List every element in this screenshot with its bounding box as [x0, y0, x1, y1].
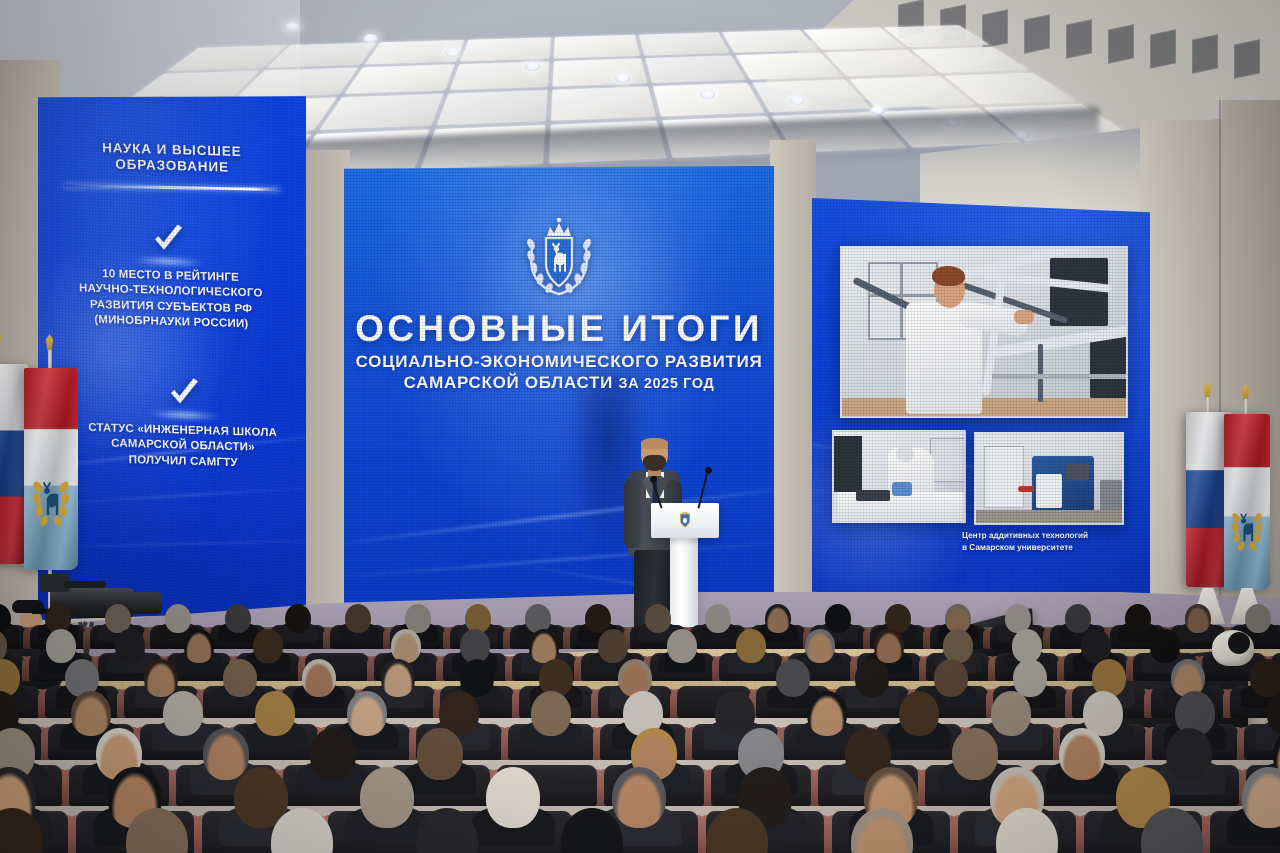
left-screen-divider [64, 184, 280, 191]
lab-bench [992, 374, 1128, 379]
checkmark-glow [132, 255, 204, 267]
audience-member-head [46, 629, 76, 663]
audience-member-head [825, 604, 851, 633]
flag-samara-folds [1224, 414, 1270, 590]
audience-member-head [899, 691, 939, 736]
audience-member-head [855, 659, 889, 697]
audience-member-head [715, 691, 755, 736]
left-screen-bullet-1: 10 МЕСТО В РЕЙТИНГЕ НАУЧНО-ТЕХНОЛОГИЧЕСК… [51, 266, 290, 334]
additive-printer-screen [1066, 464, 1089, 480]
audience-member-head [253, 629, 283, 663]
lab2-shelf [930, 438, 966, 482]
audience-member-head [952, 728, 998, 780]
center-screen-subtitle-line2: САМАРСКОЙ ОБЛАСТИ [404, 373, 613, 392]
ceiling-spotlight [870, 106, 885, 115]
lab-stand [1038, 344, 1043, 402]
audience-member-head [163, 691, 203, 736]
samara-flag-crest-icon [1231, 509, 1263, 555]
audience-member-head [585, 604, 611, 633]
audience-member-head [1245, 604, 1271, 633]
photo-lab-technician [832, 430, 966, 523]
led-screen-right[interactable]: Центр аддитивных технологий в Самарском … [812, 198, 1150, 606]
center-screen-title: ОСНОВНЫЕ ИТОГИ [344, 308, 774, 350]
audience-member-head [991, 691, 1031, 736]
scientist-hand [1014, 310, 1034, 324]
audience-member-head [874, 629, 904, 663]
audience-member-head [667, 629, 697, 663]
audience-member-head [1150, 629, 1180, 663]
photo-scientist-laboratory [840, 246, 1128, 418]
audience-member-head [203, 728, 249, 780]
lab2-sample-tray [856, 490, 890, 501]
speaker-hairline [641, 438, 668, 449]
audience-member-head [736, 629, 766, 663]
audience-member-head [934, 659, 968, 697]
samara-coat-of-arms-icon [522, 214, 596, 300]
center-screen-year: ЗА 2025 ГОД [618, 376, 714, 392]
audience-member-head [417, 728, 463, 780]
wall-panel-between-left-and-center [300, 150, 350, 620]
right-screen-caption: Центр аддитивных технологий в Самарском … [962, 530, 1137, 554]
lab2-instrument [892, 482, 912, 496]
audience-member-head [807, 691, 847, 736]
flag-samara-oblast [1224, 414, 1270, 590]
podium-emblem-icon [678, 510, 693, 529]
audience-member-head [225, 604, 251, 633]
audience-member-head [531, 691, 571, 736]
lab-equipment-panel-far-right [1090, 336, 1128, 398]
flagpole-finial-left-1 [0, 330, 3, 347]
audience-seating [0, 612, 1280, 853]
audience-member-head [144, 659, 178, 697]
audience-member-head [360, 767, 414, 828]
audience-member-head [255, 691, 295, 736]
audience-member-head [184, 629, 214, 663]
audience-member-head [302, 659, 336, 697]
audience-member-head [486, 767, 540, 828]
audience-member-head [71, 691, 111, 736]
audience-member-head [529, 629, 559, 663]
audience-member-head [705, 604, 731, 633]
audience-member-head [1059, 728, 1105, 780]
audience-member-head [612, 767, 666, 828]
speaker-arm-left [624, 478, 641, 548]
conference-hall-scene: НАУКА И ВЫСШЕЕ ОБРАЗОВАНИЕ 10 МЕСТО В РЕ… [0, 0, 1280, 853]
audience-member-head [460, 629, 490, 663]
audience-member-head [1065, 604, 1091, 633]
audience-member-head [223, 659, 257, 697]
audience-member-head [381, 659, 415, 697]
center-screen-subtitle-line2-row: САМАРСКОЙ ОБЛАСТИ ЗА 2025 ГОД [344, 373, 774, 393]
technician-head [896, 446, 914, 462]
microphone-head-left [650, 476, 657, 483]
ceiling-spotlight [363, 34, 378, 43]
center-screen-subtitle-line1: СОЦИАЛЬНО-ЭКОНОМИЧЕСКОГО РАЗВИТИЯ [344, 352, 774, 372]
audience-member-head [165, 604, 191, 633]
audience-member-head [347, 691, 387, 736]
caption-line-1: Центр аддитивных технологий [962, 530, 1137, 542]
caption-line-2: в Самарском университете [962, 542, 1137, 554]
lab2-equipment-left [834, 436, 862, 492]
lab3-wall-cabinet [984, 446, 1024, 508]
audience-row [0, 844, 1280, 853]
audience-member-head [765, 604, 791, 633]
ceiling-spotlight [700, 90, 715, 99]
ceiling-spotlight [285, 22, 300, 31]
flagpole-finial-left-2 [44, 334, 55, 351]
audience-member-head [1185, 604, 1211, 633]
audience-member-head [645, 604, 671, 633]
ceiling-spotlight [615, 74, 630, 83]
audience-member-head [1081, 629, 1111, 663]
lab3-side-unit [1100, 480, 1122, 512]
wall-panel-between-center-and-right [770, 140, 816, 620]
left-screen-heading: НАУКА И ВЫСШЕЕ ОБРАЗОВАНИЕ [50, 139, 295, 178]
audience-member-head [1166, 728, 1212, 780]
speaker-beard [643, 455, 666, 471]
camera-top-handle [64, 581, 106, 588]
checkmark-glow [148, 409, 220, 421]
audience-member-head [391, 629, 421, 663]
audience-member-head [1250, 659, 1280, 697]
photo-additive-machine [974, 432, 1124, 525]
lab-floor [842, 398, 1128, 418]
audience-member-head [115, 629, 145, 663]
audience-member-head [1013, 659, 1047, 697]
ceiling-spotlight [445, 48, 460, 57]
additive-printer-door [1036, 474, 1062, 508]
flag-samara-folds [24, 368, 78, 570]
lab3-floor [976, 510, 1124, 525]
audience-member-head [285, 604, 311, 633]
audience-member-head [310, 728, 356, 780]
audience-member-head [598, 629, 628, 663]
audience-member-head [776, 659, 810, 697]
audience-member-head [1125, 604, 1151, 633]
camera-lens [128, 592, 162, 614]
audience-member-head [1012, 629, 1042, 663]
audience-member-head [805, 629, 835, 663]
flag-samara-oblast [24, 368, 78, 570]
lab3-red-hose [1018, 486, 1034, 492]
audience-member-head [345, 604, 371, 633]
audience-member-head [943, 629, 973, 663]
samara-flag-crest-icon [32, 477, 70, 531]
flag-group-right [1182, 382, 1280, 642]
checkmark-icon [164, 374, 204, 416]
scientist-hair [932, 266, 965, 286]
microphone-head-right [705, 467, 712, 474]
ceiling-spotlight [790, 96, 805, 105]
turban-center [1228, 632, 1250, 654]
checkmark-icon [148, 220, 188, 262]
ceiling-spotlight [525, 62, 540, 71]
